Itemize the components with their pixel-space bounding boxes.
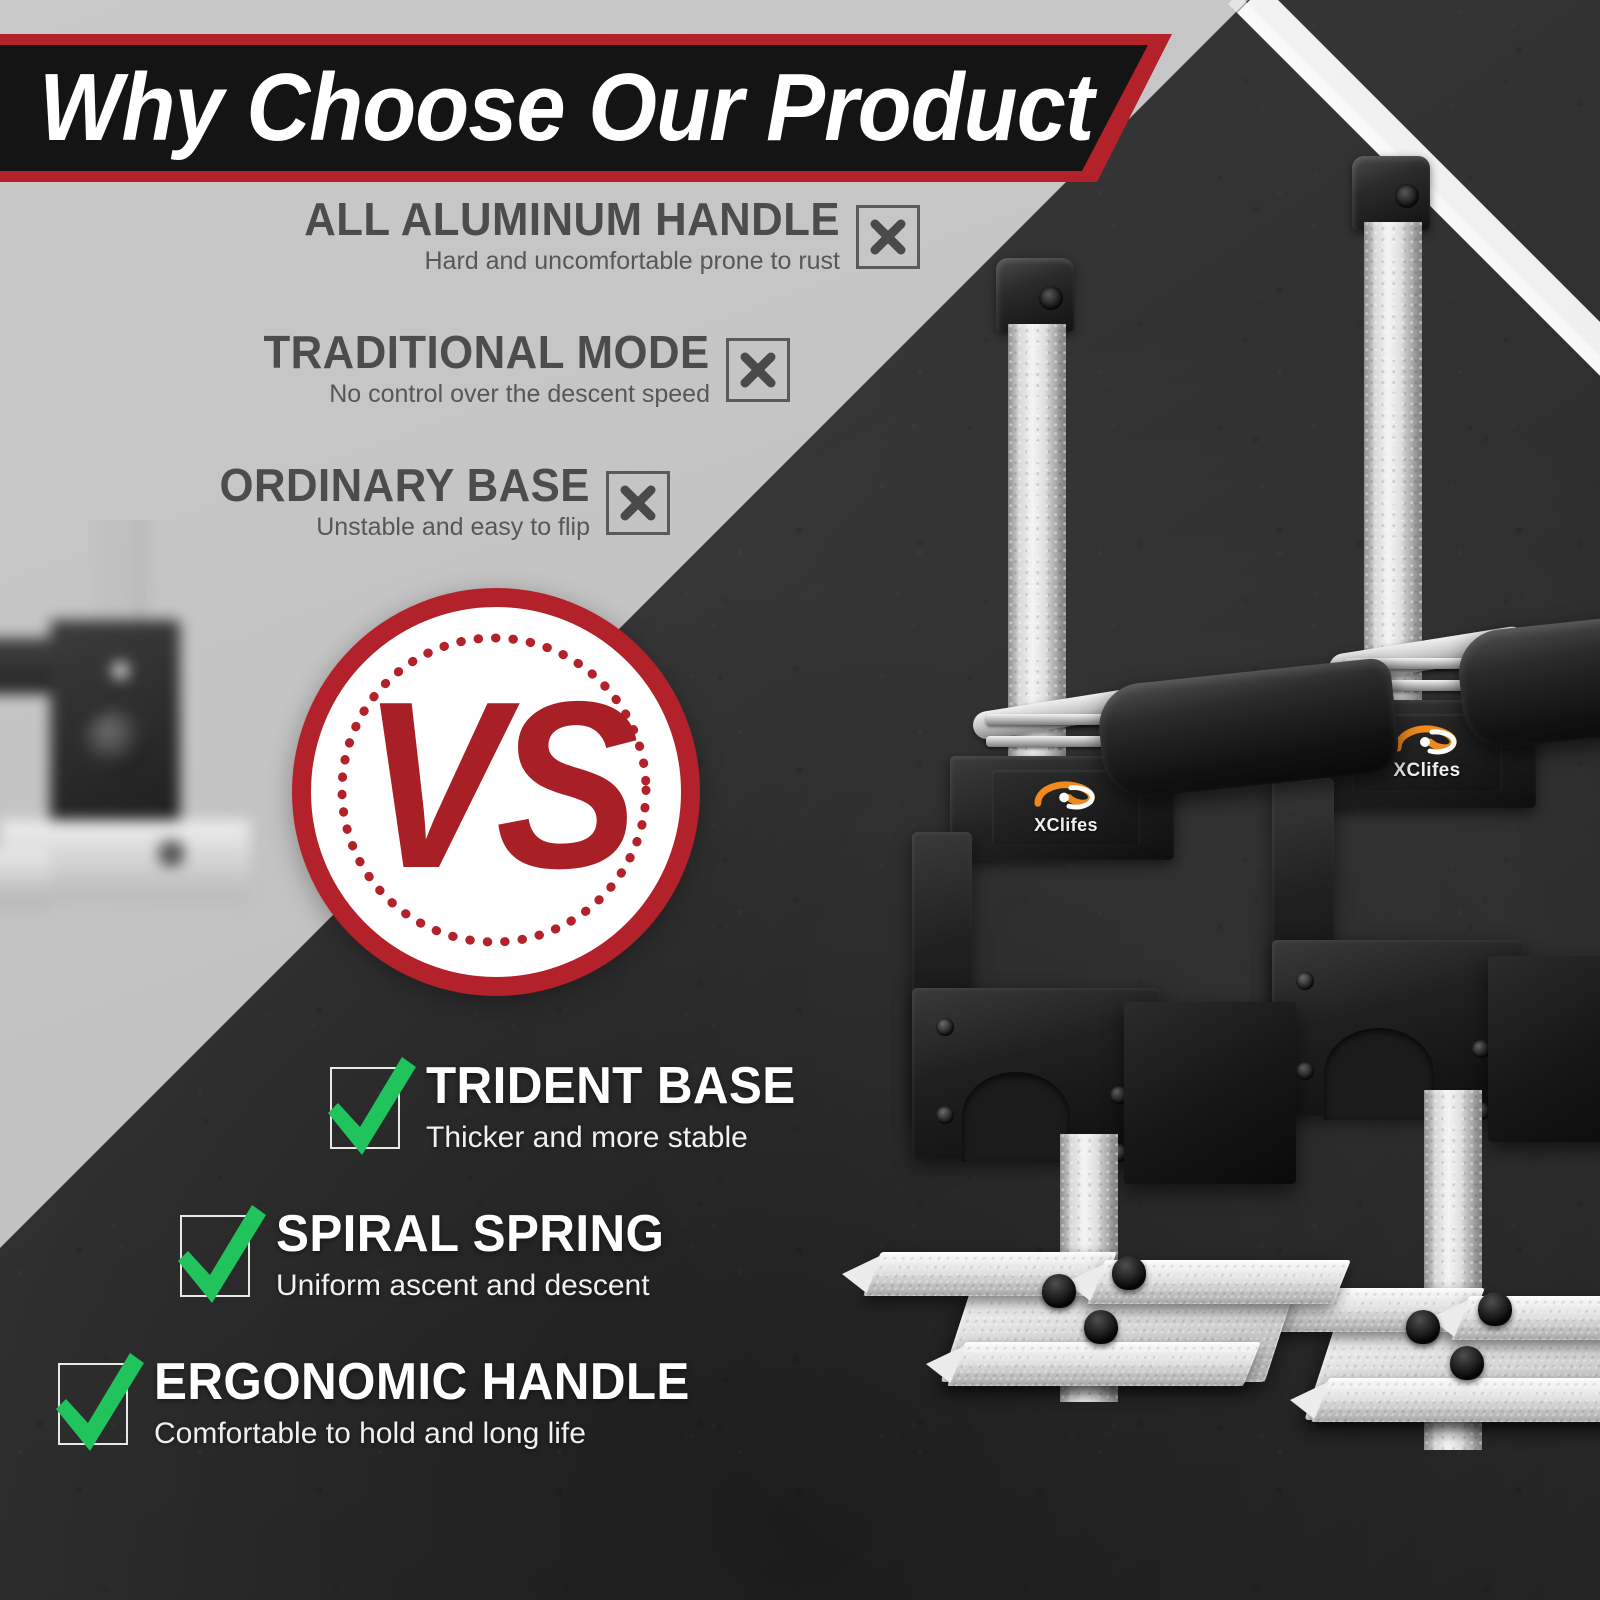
x-mark-icon bbox=[737, 349, 779, 391]
pro-item: TRIDENT BASE Thicker and more stable bbox=[0, 1060, 960, 1156]
con-subtitle: Hard and uncomfortable prone to rust bbox=[276, 246, 840, 277]
con-item: ORDINARY BASE Unstable and easy to flip bbox=[0, 462, 950, 543]
brand-name: XClifes bbox=[1393, 760, 1460, 782]
x-mark-icon bbox=[867, 216, 909, 258]
infographic-canvas: XClifes bbox=[0, 0, 1600, 1600]
x-mark-icon bbox=[617, 482, 659, 524]
pro-subtitle: Comfortable to hold and long life bbox=[154, 1416, 718, 1452]
header-banner: Why Choose Our Product bbox=[0, 34, 1172, 182]
pro-title: SPIRAL SPRING bbox=[276, 1208, 664, 1260]
x-mark-box bbox=[726, 338, 790, 402]
banner-black-fill: Why Choose Our Product bbox=[0, 45, 1148, 171]
con-title: ORDINARY BASE bbox=[220, 462, 590, 509]
pros-list: TRIDENT BASE Thicker and more stable SPI… bbox=[0, 1060, 960, 1504]
pro-item: ERGONOMIC HANDLE Comfortable to hold and… bbox=[0, 1356, 960, 1452]
pro-title: TRIDENT BASE bbox=[426, 1060, 796, 1112]
cons-list: ALL ALUMINUM HANDLE Hard and uncomfortab… bbox=[0, 196, 950, 595]
pro-item: SPIRAL SPRING Uniform ascent and descent bbox=[0, 1208, 960, 1304]
vs-badge: VS bbox=[292, 588, 700, 996]
con-title: ALL ALUMINUM HANDLE bbox=[304, 196, 840, 243]
check-mark-box bbox=[180, 1215, 250, 1297]
brand-name: XClifes bbox=[1034, 815, 1098, 836]
con-subtitle: Unstable and easy to flip bbox=[200, 512, 590, 543]
page-title: Why Choose Our Product bbox=[0, 60, 1093, 156]
check-mark-box bbox=[330, 1067, 400, 1149]
pro-title: ERGONOMIC HANDLE bbox=[154, 1356, 690, 1408]
x-mark-box bbox=[606, 471, 670, 535]
x-mark-box bbox=[856, 205, 920, 269]
check-mark-icon bbox=[44, 1343, 148, 1463]
check-mark-box bbox=[58, 1363, 128, 1445]
check-mark-icon bbox=[316, 1047, 420, 1167]
pro-subtitle: Thicker and more stable bbox=[426, 1120, 815, 1156]
vs-label: VS bbox=[362, 667, 630, 905]
xclifes-swoosh-icon bbox=[1032, 780, 1100, 813]
con-subtitle: No control over the descent speed bbox=[240, 379, 710, 410]
xclifes-swoosh-icon bbox=[1392, 724, 1462, 758]
check-mark-icon bbox=[166, 1195, 270, 1315]
con-item: ALL ALUMINUM HANDLE Hard and uncomfortab… bbox=[0, 196, 950, 277]
con-item: TRADITIONAL MODE No control over the des… bbox=[0, 329, 950, 410]
con-title: TRADITIONAL MODE bbox=[264, 329, 710, 376]
pro-subtitle: Uniform ascent and descent bbox=[276, 1268, 685, 1304]
